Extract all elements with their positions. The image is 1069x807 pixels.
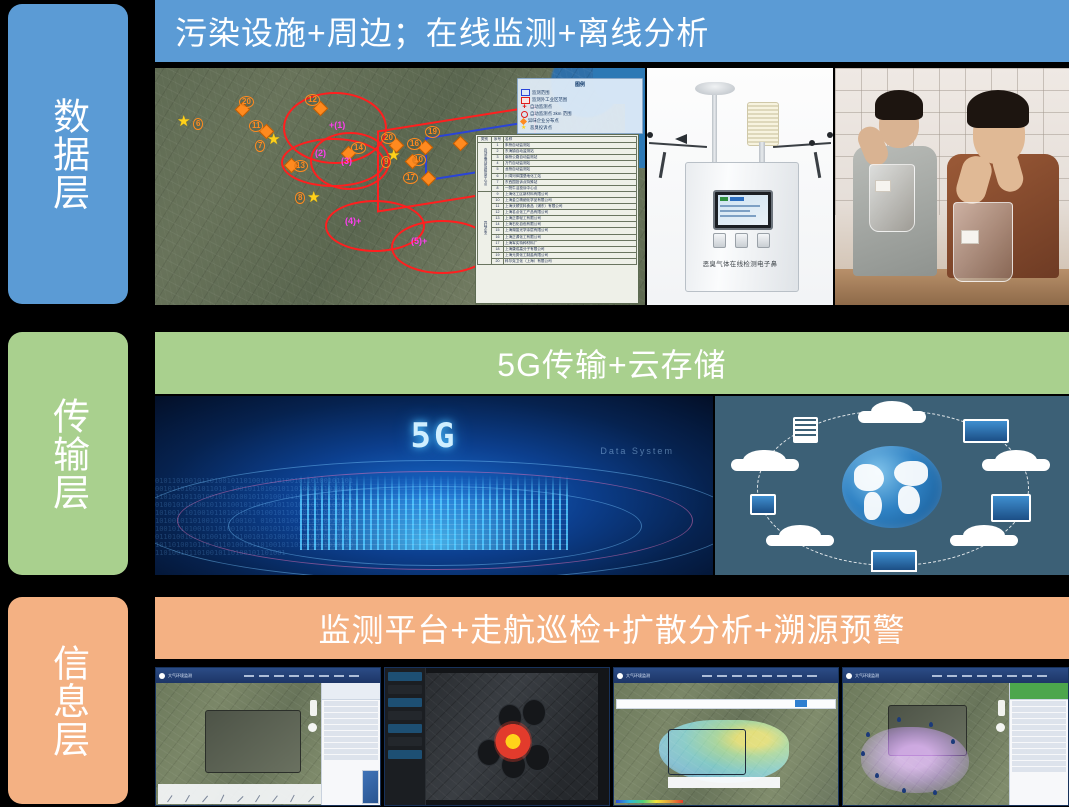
- panel-row: [1012, 737, 1067, 742]
- layer-transmission: 传输层 5G传输+云存储 5G Data System 010110100101…: [0, 332, 1069, 575]
- storage-tank: [522, 699, 546, 726]
- legend-item: 监测范围: [521, 89, 639, 96]
- display-badge-green: [720, 197, 728, 201]
- panel-header: [322, 683, 380, 700]
- legend-item-label: 监测范围: [532, 90, 550, 96]
- person-left-hair: [875, 90, 923, 120]
- cloud-base: [858, 411, 926, 423]
- legend-item-label: 恶臭投诉点: [530, 125, 552, 131]
- rain-cap: [695, 82, 735, 95]
- sensor-pin[interactable]: [902, 788, 906, 793]
- app-title: 大气环境监测: [168, 673, 192, 679]
- cloud-base: [731, 459, 799, 471]
- architecture-diagram: 数据层 污染设施+周边；在线监测+离线分析: [0, 0, 1069, 807]
- monitor-icon: [750, 494, 775, 514]
- sensor-pin[interactable]: [951, 739, 955, 744]
- nav-item[interactable]: [304, 675, 314, 677]
- panel-header: [1010, 683, 1069, 700]
- station-table: 类别 序号 名称 自动监测站及投诉中心点 1 朱桥自动监测站 2 东海镇自动监测…: [477, 136, 637, 265]
- dark-control-panel[interactable]: [385, 668, 426, 805]
- map-station-label: (5)+: [411, 236, 427, 246]
- sidebar-item-transmission-layer[interactable]: 传输层: [8, 332, 128, 575]
- server-slot: [795, 434, 816, 436]
- data-side-panel[interactable]: [321, 683, 380, 805]
- gas-sample-bag: [869, 164, 915, 232]
- layer-information: 信息层 监测平台+走航巡检+扩散分析+溯源预警 大气环境监测: [0, 597, 1069, 807]
- panel-row: [324, 743, 378, 748]
- display-badge-blue: [730, 197, 744, 201]
- map-canvas[interactable]: [614, 683, 838, 805]
- legend-item: ✚ 自动监测点: [521, 104, 639, 110]
- source-plume-overlay: [861, 727, 969, 793]
- panel-row: [1012, 731, 1067, 736]
- panel-block: [388, 698, 422, 707]
- panel-block: [388, 724, 422, 733]
- nav-item[interactable]: [349, 675, 359, 677]
- map-complaint-star: ★: [307, 190, 320, 205]
- panel-row: [1012, 701, 1067, 706]
- layer-data: 数据层 污染设施+周边；在线监测+离线分析: [0, 0, 1069, 308]
- sample-bag-label: [961, 230, 979, 244]
- nav-item[interactable]: [747, 675, 757, 677]
- information-layer-header-text: 监测平台+走航巡检+扩散分析+溯源预警: [318, 605, 905, 651]
- nav-item[interactable]: [717, 675, 727, 677]
- cloud-icon: [779, 525, 821, 546]
- nav-item[interactable]: [334, 675, 344, 677]
- panel-row: [1012, 725, 1067, 730]
- legend-item: 异味企业分布点: [521, 118, 639, 124]
- nav-item[interactable]: [289, 675, 299, 677]
- panel-row: [324, 731, 378, 736]
- data-layer-header: 污染设施+周边；在线监测+离线分析: [155, 0, 1069, 62]
- continent-shape: [898, 486, 920, 514]
- legend-item-label: 自动监测点: [530, 104, 552, 110]
- data-side-panel[interactable]: [1009, 683, 1069, 805]
- nav-item[interactable]: [732, 675, 742, 677]
- person-right-hair: [967, 90, 1029, 128]
- wind-tick: [272, 795, 278, 802]
- nav-item[interactable]: [1022, 675, 1032, 677]
- wind-tick: [308, 796, 314, 803]
- panel-block: [388, 672, 422, 681]
- globe-icon: [842, 446, 941, 528]
- panel-row: [324, 707, 378, 712]
- monitoring-platform-screenshot[interactable]: 大气环境监测: [155, 667, 381, 806]
- nav-item[interactable]: [274, 675, 284, 677]
- sidebar-label-data-layer: 数据层: [45, 97, 90, 211]
- map-complaint-star: ★: [267, 132, 280, 147]
- server-slot: [795, 429, 816, 431]
- continent-shape: [894, 461, 928, 486]
- display-line: [720, 205, 760, 207]
- transmission-layer-media-row: 5G Data System 0101101001011010010110100…: [155, 396, 1069, 575]
- legend-item: 自动监测点 3km 范围: [521, 111, 639, 118]
- heatmap-colorbar: [616, 800, 683, 803]
- sensor-pin[interactable]: [875, 773, 879, 778]
- nav-item[interactable]: [947, 675, 957, 677]
- wind-tick: [220, 794, 224, 802]
- wind-tick: [202, 795, 208, 802]
- panel-row: [324, 737, 378, 742]
- cloud-base: [950, 535, 1018, 547]
- app-logo-icon: [159, 673, 165, 679]
- data-layer-media-row: ★ ★ ★ ★ 20 11 12 14 13 20 16 19 10 9 17 …: [155, 68, 1069, 305]
- nav-item[interactable]: [762, 675, 772, 677]
- facility-outline: [668, 729, 746, 775]
- nav-item[interactable]: [777, 675, 787, 677]
- panel-row: [1012, 767, 1067, 772]
- panel-row: [324, 749, 378, 754]
- sidebar-item-information-layer[interactable]: 信息层: [8, 597, 128, 804]
- map-label-number: 20: [239, 96, 254, 108]
- map-legend: 图例 监测范围 监测外工业区范围 ✚ 自动监测点: [517, 78, 643, 134]
- display-line: [720, 210, 750, 212]
- transmission-layer-header: 5G传输+云存储: [155, 332, 1069, 394]
- device-button[interactable]: [713, 233, 726, 248]
- information-layer-panel: 监测平台+走航巡检+扩散分析+溯源预警: [155, 597, 1069, 659]
- sidebar-label-transmission-layer: 传输层: [45, 397, 90, 511]
- app-nav-items[interactable]: [244, 675, 377, 677]
- panel-row: [324, 701, 378, 706]
- mobile-inspection-screenshot[interactable]: [384, 667, 610, 806]
- blue-rect-icon: [521, 89, 530, 96]
- map-label-number: 14: [351, 142, 366, 154]
- anemometer-cup: [809, 140, 815, 146]
- cloud-icon: [871, 401, 913, 422]
- map-label-number: 19: [425, 126, 440, 138]
- sensor-pin[interactable]: [933, 790, 937, 795]
- monitor-icon: [963, 419, 1009, 443]
- anemometer-cup: [647, 132, 653, 138]
- map-label-number: 16: [407, 138, 422, 150]
- legend-item: 监测外工业区范围: [521, 97, 639, 104]
- status-bar: [668, 777, 780, 788]
- laptop-icon: [871, 550, 917, 572]
- td-category-enterprise: 异味企业: [478, 191, 492, 264]
- online-monitoring-device[interactable]: 恶臭气体在线检测电子鼻: [647, 68, 833, 305]
- device-button[interactable]: [757, 233, 770, 248]
- app-title: 大气环境监测: [855, 673, 879, 679]
- map-label-number: 17: [403, 172, 418, 184]
- server-slot: [795, 419, 816, 421]
- cloud-base: [766, 535, 834, 547]
- five-g-city-visual[interactable]: 5G Data System 0101101001011010010110100…: [155, 396, 713, 575]
- td-category-auto: 自动监测站及投诉中心点: [478, 143, 492, 192]
- nav-item[interactable]: [1037, 675, 1047, 677]
- nav-item[interactable]: [977, 675, 987, 677]
- nav-item[interactable]: [792, 675, 802, 677]
- panel-row: [1012, 743, 1067, 748]
- transmission-layer-header-text: 5G传输+云存储: [497, 340, 726, 386]
- device-display: [713, 190, 773, 230]
- zoom-control[interactable]: [310, 700, 317, 716]
- app-topbar: 大气环境监测: [156, 668, 380, 683]
- cloud-icon: [995, 450, 1037, 471]
- map-legend-title: 图例: [521, 81, 639, 88]
- panel-row: [1012, 719, 1067, 724]
- compass-icon[interactable]: [308, 723, 317, 732]
- cloud-icon: [963, 525, 1005, 546]
- nav-item[interactable]: [702, 675, 712, 677]
- nav-item[interactable]: [1007, 675, 1017, 677]
- server-icon: [793, 417, 818, 442]
- device-button[interactable]: [735, 233, 748, 248]
- wind-tick: [167, 795, 172, 802]
- td-no: 20: [492, 258, 504, 264]
- sampling-mast: [712, 94, 717, 164]
- app-logo-icon: [846, 673, 852, 679]
- query-submit-button[interactable]: [795, 700, 806, 707]
- sensor-pin[interactable]: [929, 722, 933, 727]
- dark-map-canvas[interactable]: [425, 673, 598, 799]
- sidebar-item-data-layer[interactable]: 数据层: [8, 4, 128, 304]
- nav-item[interactable]: [807, 675, 817, 677]
- transmission-layer-panel: 5G传输+云存储: [155, 332, 1069, 394]
- anemometer-cup: [827, 132, 833, 138]
- wind-tick: [255, 795, 260, 802]
- nav-item[interactable]: [932, 675, 942, 677]
- display-content: [718, 195, 768, 225]
- red-cross-circle-icon: ✚: [521, 105, 528, 110]
- data-layer-header-text: 污染设施+周边；在线监测+离线分析: [155, 8, 709, 54]
- server-slot: [795, 424, 816, 426]
- panel-row: [324, 755, 378, 760]
- app-topbar: 大气环境监测: [843, 668, 1068, 683]
- wind-vane: [675, 134, 687, 144]
- app-nav-items[interactable]: [702, 675, 835, 677]
- facility-outline: [205, 710, 301, 773]
- panel-row: [324, 713, 378, 718]
- app-logo-icon: [617, 673, 623, 679]
- information-layer-header: 监测平台+走航巡检+扩散分析+溯源预警: [155, 597, 1069, 659]
- nav-item[interactable]: [319, 675, 329, 677]
- map-station-table[interactable]: 类别 序号 名称 自动监测站及投诉中心点 1 朱桥自动监测站 2 东海镇自动监测…: [475, 134, 639, 304]
- panel-row: [1012, 713, 1067, 718]
- map-label-number: 13: [293, 160, 308, 172]
- app-topbar: 大气环境监测: [614, 668, 838, 683]
- device-caption: 恶臭气体在线检测电子鼻: [647, 258, 833, 268]
- red-rect-icon: [521, 97, 530, 104]
- monitor-icon: [991, 494, 1030, 521]
- map-label-number: 10: [411, 154, 426, 166]
- wind-tick: [290, 794, 295, 802]
- panel-block: [388, 750, 422, 759]
- information-layer-media-row: 大气环境监测: [155, 667, 1069, 804]
- radiation-shield: [747, 102, 779, 146]
- nav-item[interactable]: [244, 675, 254, 677]
- app-nav-items[interactable]: [932, 675, 1065, 677]
- panel-row: [324, 719, 378, 724]
- yellow-star-icon: ★: [521, 125, 528, 130]
- map-station-label: (2): [315, 148, 326, 158]
- red-circle-icon: [521, 111, 528, 118]
- mini-map[interactable]: [362, 770, 379, 804]
- cloud-storage-diagram[interactable]: [715, 396, 1069, 575]
- offline-olfactometry-photo[interactable]: [835, 68, 1069, 305]
- pollution-source-map[interactable]: ★ ★ ★ ★ 20 11 12 14 13 20 16 19 10 9 17 …: [155, 68, 645, 305]
- continent-shape: [864, 492, 882, 520]
- alarm-pulse-marker[interactable]: [494, 721, 532, 761]
- map-station-label: (3): [341, 156, 352, 166]
- display-line: [720, 215, 756, 217]
- nav-item[interactable]: [992, 675, 1002, 677]
- compass-icon[interactable]: [996, 723, 1005, 732]
- sidebar-label-information-layer: 信息层: [45, 644, 90, 758]
- legend-item-label: 异味企业分布点: [528, 118, 559, 124]
- data-layer-panel: 污染设施+周边；在线监测+离线分析: [155, 0, 1069, 62]
- map-label-number: 20: [381, 132, 396, 144]
- cloud-icon: [743, 450, 785, 471]
- panel-row: [324, 725, 378, 730]
- panel-row: [1012, 755, 1067, 760]
- panel-row: [1012, 707, 1067, 712]
- map-station-label: +(1): [329, 120, 345, 130]
- nav-item[interactable]: [962, 675, 972, 677]
- nav-item[interactable]: [259, 675, 269, 677]
- sample-bag-label: [875, 180, 891, 192]
- source-tracing-screenshot[interactable]: 大气环境监测: [842, 667, 1069, 806]
- panel-row: [1012, 749, 1067, 754]
- panel-row: [1012, 761, 1067, 766]
- cloud-base: [982, 459, 1050, 471]
- map-label-number: 12: [305, 94, 320, 106]
- table-row: 20 科尔克卫化（上海）有限公司: [478, 258, 637, 264]
- zoom-control[interactable]: [998, 700, 1005, 716]
- legend-item-label: 自动监测点 3km 范围: [530, 111, 571, 117]
- panel-block: [388, 685, 422, 694]
- orange-diamond-icon: [520, 117, 527, 124]
- diffusion-analysis-screenshot[interactable]: 大气环境监测: [613, 667, 839, 806]
- legend-item-label: 监测外工业区范围: [532, 97, 567, 103]
- map-station-label: (4)+: [345, 216, 361, 226]
- panel-block: [388, 711, 422, 720]
- wind-tick: [237, 796, 243, 802]
- legend-item: ★ 恶臭投诉点: [521, 125, 639, 131]
- map-complaint-star: ★: [177, 114, 190, 129]
- continent-shape: [854, 464, 884, 490]
- fiveg-subtitle-text: Data System: [600, 446, 674, 456]
- panel-block: [388, 737, 422, 746]
- td-name: 科尔克卫化（上海）有限公司: [504, 258, 637, 264]
- sensor-pin[interactable]: [866, 732, 870, 737]
- app-title: 大气环境监测: [626, 673, 650, 679]
- wind-tick: [185, 795, 190, 802]
- fiveg-binary-texture: 0101101001011010010110100101101001011010…: [155, 477, 356, 575]
